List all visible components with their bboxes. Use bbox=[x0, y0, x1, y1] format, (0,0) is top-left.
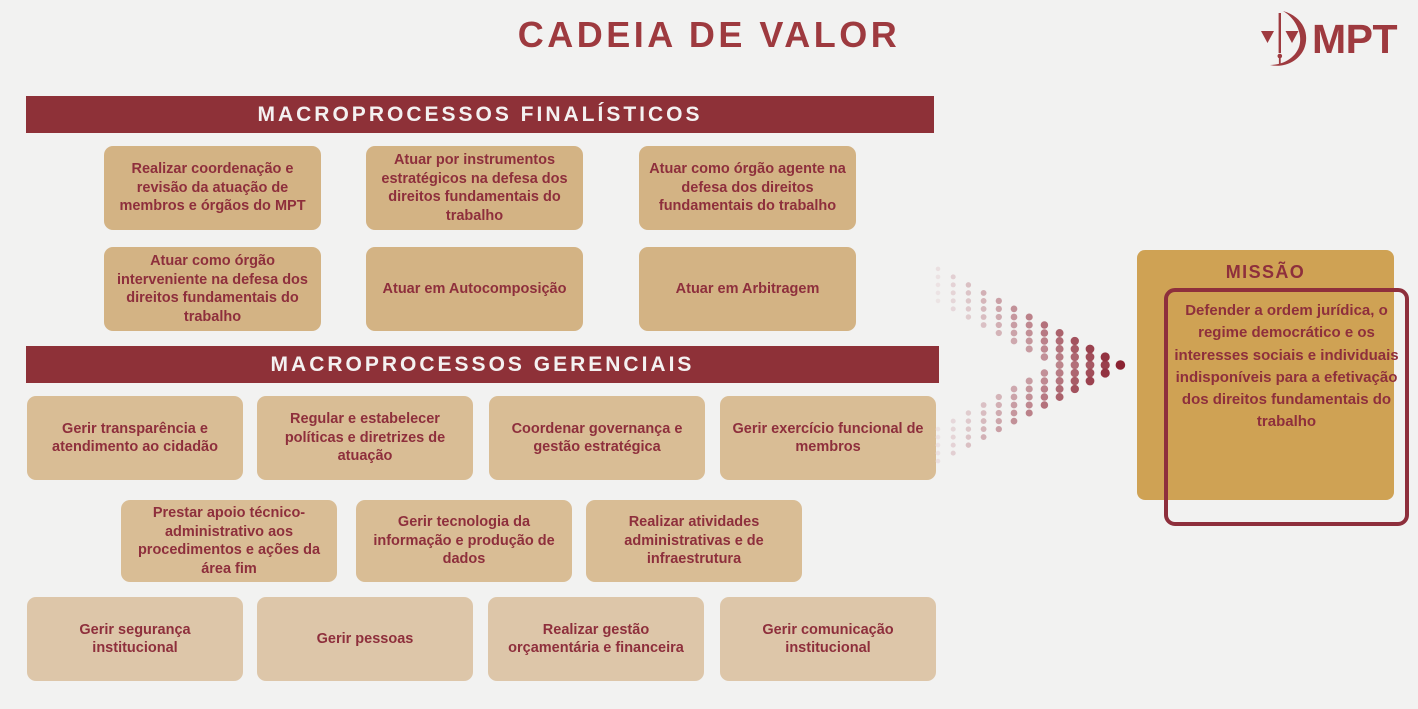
arrow-dot bbox=[966, 314, 971, 319]
arrow-dot bbox=[1056, 377, 1064, 385]
arrow-dot bbox=[951, 427, 956, 432]
arrow-dot bbox=[1011, 306, 1018, 313]
arrow-dot bbox=[996, 298, 1002, 304]
arrow-dot bbox=[1056, 345, 1064, 353]
arrow-dot bbox=[1026, 385, 1033, 392]
arrow-dot bbox=[936, 283, 941, 288]
arrow-dot bbox=[1011, 322, 1018, 329]
process-box[interactable]: Atuar como órgão interveniente na defesa… bbox=[104, 247, 321, 331]
arrow-dot bbox=[966, 426, 971, 431]
arrow-dot bbox=[1011, 386, 1018, 393]
arrow-dot bbox=[951, 443, 956, 448]
arrow-dot bbox=[1086, 345, 1095, 354]
arrow-dot bbox=[996, 426, 1002, 432]
process-box[interactable]: Gerir comunicação institucional bbox=[720, 597, 936, 681]
arrow-dot bbox=[1071, 377, 1079, 385]
arrow-dot bbox=[1056, 337, 1064, 345]
arrow-dot bbox=[1011, 314, 1018, 321]
arrow-dot bbox=[1011, 410, 1018, 417]
arrow-dot bbox=[1056, 393, 1064, 401]
process-box[interactable]: Gerir tecnologia da informação e produçã… bbox=[356, 500, 572, 582]
arrow-dot bbox=[966, 282, 971, 287]
arrow-dot bbox=[1026, 345, 1033, 352]
process-box[interactable]: Atuar por instrumentos estratégicos na d… bbox=[366, 146, 583, 230]
arrow-dot bbox=[1041, 401, 1049, 409]
arrow-dot bbox=[1071, 385, 1079, 393]
arrow-dot bbox=[936, 427, 941, 432]
arrow-dot bbox=[966, 298, 971, 303]
arrow-dot bbox=[1101, 368, 1110, 377]
process-box[interactable]: Realizar coordenação e revisão da atuaçã… bbox=[104, 146, 321, 230]
arrow-dot bbox=[1026, 393, 1033, 400]
arrow-dot bbox=[1041, 345, 1049, 353]
arrow-dot bbox=[1041, 337, 1049, 345]
arrow-dot bbox=[1071, 361, 1079, 369]
arrow-dot bbox=[936, 435, 941, 440]
arrow-dot bbox=[1026, 313, 1033, 320]
arrow-dot bbox=[981, 322, 987, 328]
arrow-dot bbox=[981, 402, 987, 408]
arrow-dot bbox=[966, 442, 971, 447]
arrow-dot bbox=[981, 410, 987, 416]
arrow-dot bbox=[981, 418, 987, 424]
arrow-dot bbox=[951, 290, 956, 295]
section-band-gerenciais: MACROPROCESSOS GERENCIAIS bbox=[26, 346, 939, 383]
process-box[interactable]: Gerir segurança institucional bbox=[27, 597, 243, 681]
arrow-dot bbox=[1056, 369, 1064, 377]
arrow-dot bbox=[1056, 385, 1064, 393]
arrow-dot bbox=[996, 402, 1002, 408]
arrow-dot bbox=[1041, 321, 1049, 329]
arrow-dot bbox=[936, 275, 941, 280]
arrow-dot bbox=[951, 298, 956, 303]
process-box[interactable]: Realizar gestão orçamentária e financeir… bbox=[488, 597, 704, 681]
process-box[interactable]: Coordenar governança e gestão estratégic… bbox=[489, 396, 705, 480]
mpt-wordmark: MPT bbox=[1312, 17, 1397, 61]
arrow-dot bbox=[1071, 345, 1079, 353]
arrow-dot bbox=[1086, 377, 1095, 386]
process-box[interactable]: Atuar em Arbitragem bbox=[639, 247, 856, 331]
arrow-dot bbox=[1086, 369, 1095, 378]
process-box[interactable]: Regular e estabelecer políticas e diretr… bbox=[257, 396, 473, 480]
arrow-dot bbox=[1041, 369, 1049, 377]
arrow-dot bbox=[1101, 352, 1110, 361]
arrow-dot bbox=[951, 282, 956, 287]
arrow-dot bbox=[996, 418, 1002, 424]
arrow-dot bbox=[996, 314, 1002, 320]
arrow-dot bbox=[1011, 418, 1018, 425]
arrow-dot bbox=[936, 267, 941, 272]
arrow-dot bbox=[1026, 321, 1033, 328]
process-box[interactable]: Atuar em Autocomposição bbox=[366, 247, 583, 331]
process-box[interactable]: Gerir exercício funcional de membros bbox=[720, 396, 936, 480]
arrow-dot bbox=[951, 274, 956, 279]
arrow-dot bbox=[1026, 409, 1033, 416]
arrow-dot bbox=[1071, 353, 1079, 361]
arrow-dot bbox=[936, 291, 941, 296]
process-box[interactable]: Realizar atividades administrativas e de… bbox=[586, 500, 802, 582]
value-chain-infographic: CADEIA DE VALOR MPT MACROPROCESSOS FINAL… bbox=[0, 0, 1418, 709]
arrow-dot bbox=[1056, 361, 1064, 369]
arrow-dot bbox=[1011, 330, 1018, 337]
arrow-dot bbox=[1071, 369, 1079, 377]
arrow-dot bbox=[1011, 394, 1018, 401]
arrow-dot bbox=[966, 290, 971, 295]
arrow-dot bbox=[981, 314, 987, 320]
dotted-chevron-arrow bbox=[930, 250, 1130, 480]
arrow-dot bbox=[981, 426, 987, 432]
mission-text: Defender a ordem jurídica, o regime demo… bbox=[1170, 300, 1403, 434]
arrow-dot bbox=[951, 435, 956, 440]
arrow-dot bbox=[996, 330, 1002, 336]
arrow-dot bbox=[1041, 377, 1049, 385]
process-box[interactable]: Atuar como órgão agente na defesa dos di… bbox=[639, 146, 856, 230]
process-box[interactable]: Gerir transparência e atendimento ao cid… bbox=[27, 396, 243, 480]
arrow-dot bbox=[1011, 402, 1018, 409]
arrow-dot bbox=[951, 306, 956, 311]
arrow-dot bbox=[1101, 360, 1110, 369]
process-box[interactable]: Prestar apoio técnico-administrativo aos… bbox=[121, 500, 337, 582]
page-title: CADEIA DE VALOR bbox=[0, 13, 1418, 57]
arrow-dot bbox=[1056, 353, 1064, 361]
arrow-dot bbox=[981, 298, 987, 304]
arrow-dot bbox=[1026, 337, 1033, 344]
arrow-dot bbox=[996, 394, 1002, 400]
arrow-dot bbox=[966, 306, 971, 311]
arrow-dot bbox=[966, 418, 971, 423]
arrow-dot bbox=[1041, 329, 1049, 337]
arrow-dot bbox=[951, 451, 956, 456]
arrow-dot bbox=[936, 459, 941, 464]
arrow-dot bbox=[1041, 385, 1049, 393]
arrow-dot bbox=[1116, 360, 1126, 370]
section-band-finalisticos: MACROPROCESSOS FINALÍSTICOS bbox=[26, 96, 934, 133]
arrow-dot bbox=[996, 306, 1002, 312]
arrow-dot bbox=[1086, 353, 1095, 362]
arrow-dot bbox=[936, 451, 941, 456]
arrow-dot bbox=[936, 299, 941, 304]
mpt-sword-arc-icon bbox=[1252, 9, 1310, 69]
arrow-dot bbox=[966, 434, 971, 439]
arrow-dot bbox=[981, 306, 987, 312]
arrow-dot bbox=[1071, 337, 1079, 345]
arrow-dot bbox=[1026, 377, 1033, 384]
mission-heading: MISSÃO bbox=[1137, 262, 1394, 283]
arrow-dot bbox=[1011, 338, 1018, 345]
arrow-dot bbox=[936, 443, 941, 448]
process-box[interactable]: Gerir pessoas bbox=[257, 597, 473, 681]
arrow-dot bbox=[981, 290, 987, 296]
arrow-dot bbox=[981, 434, 987, 440]
arrow-dot bbox=[996, 322, 1002, 328]
arrow-dot bbox=[1041, 353, 1049, 361]
arrow-dot bbox=[1041, 393, 1049, 401]
arrow-dot bbox=[1026, 329, 1033, 336]
arrow-dot bbox=[1026, 401, 1033, 408]
arrow-dot bbox=[951, 419, 956, 424]
mpt-logo: MPT bbox=[1252, 8, 1412, 70]
arrow-dot bbox=[966, 410, 971, 415]
arrow-dot bbox=[996, 410, 1002, 416]
arrow-dot bbox=[1086, 361, 1095, 370]
arrow-dot bbox=[1056, 329, 1064, 337]
